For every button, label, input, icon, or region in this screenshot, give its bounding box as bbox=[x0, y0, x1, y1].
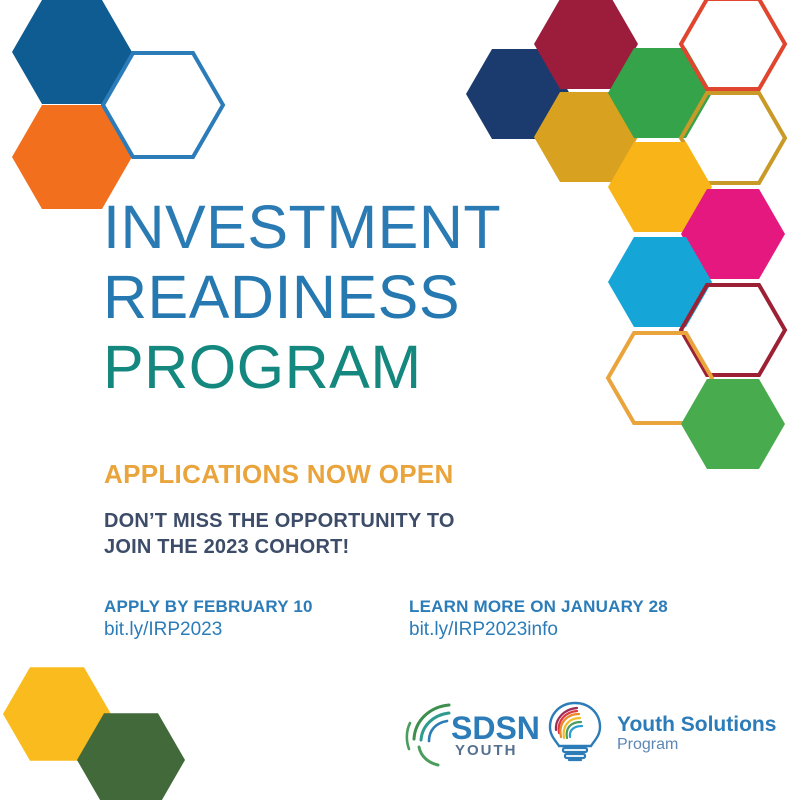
hex-red-outline bbox=[681, 0, 785, 89]
youth-solutions-line-2: Program bbox=[617, 736, 776, 754]
hex-maroon bbox=[534, 0, 638, 89]
cta-learn-more-heading: LEARN MORE ON JANUARY 28 bbox=[409, 597, 668, 617]
youth-solutions-wordmark: Youth Solutions Program bbox=[617, 713, 776, 754]
hex-gold-outline bbox=[681, 93, 785, 183]
hex-magenta bbox=[681, 189, 785, 279]
hex-yellow bbox=[608, 142, 712, 232]
hex-bottomleft-yellow bbox=[3, 667, 111, 761]
headline-line-2: READINESS bbox=[103, 262, 501, 332]
youth-solutions-program-logo: Youth Solutions Program bbox=[539, 697, 776, 769]
tagline-line-1: DON’T MISS THE OPPORTUNITY TO bbox=[104, 508, 455, 534]
poster-canvas: INVESTMENT READINESS PROGRAM APPLICATION… bbox=[0, 0, 800, 800]
headline-line-1: INVESTMENT bbox=[103, 192, 501, 262]
hex-gold bbox=[534, 92, 638, 182]
hex-bottomleft-green bbox=[77, 713, 185, 800]
tagline: DON’T MISS THE OPPORTUNITY TO JOIN THE 2… bbox=[104, 508, 455, 560]
page-title: INVESTMENT READINESS PROGRAM bbox=[103, 192, 501, 402]
hex-topleft-outline bbox=[103, 53, 223, 157]
hex-green-top bbox=[608, 48, 712, 138]
hex-green-bottom bbox=[681, 379, 785, 469]
applications-open-banner: APPLICATIONS NOW OPEN bbox=[104, 459, 454, 490]
cta-apply-link[interactable]: bit.ly/IRP2023 bbox=[104, 619, 313, 641]
logo-row: SDSN YOUTH Youth Solutions bbox=[405, 697, 776, 769]
cta-learn-more-link[interactable]: bit.ly/IRP2023info bbox=[409, 619, 668, 641]
lightbulb-icon bbox=[539, 697, 611, 769]
hex-orange-outline bbox=[608, 333, 712, 423]
hex-cyan bbox=[608, 237, 712, 327]
tagline-line-2: JOIN THE 2023 COHORT! bbox=[104, 534, 455, 560]
hex-darkred-outline bbox=[681, 285, 785, 375]
hex-navy bbox=[466, 49, 570, 139]
youth-solutions-line-1: Youth Solutions bbox=[617, 713, 776, 736]
sdsn-youth-subtext: YOUTH bbox=[455, 742, 518, 759]
hex-topleft-navy bbox=[12, 0, 132, 104]
cta-apply: APPLY BY FEBRUARY 10 bit.ly/IRP2023 bbox=[104, 597, 313, 641]
headline-line-3: PROGRAM bbox=[103, 332, 501, 402]
cta-learn-more: LEARN MORE ON JANUARY 28 bit.ly/IRP2023i… bbox=[409, 597, 668, 641]
sdsn-youth-logo: SDSN YOUTH bbox=[405, 697, 533, 769]
cta-apply-heading: APPLY BY FEBRUARY 10 bbox=[104, 597, 313, 617]
